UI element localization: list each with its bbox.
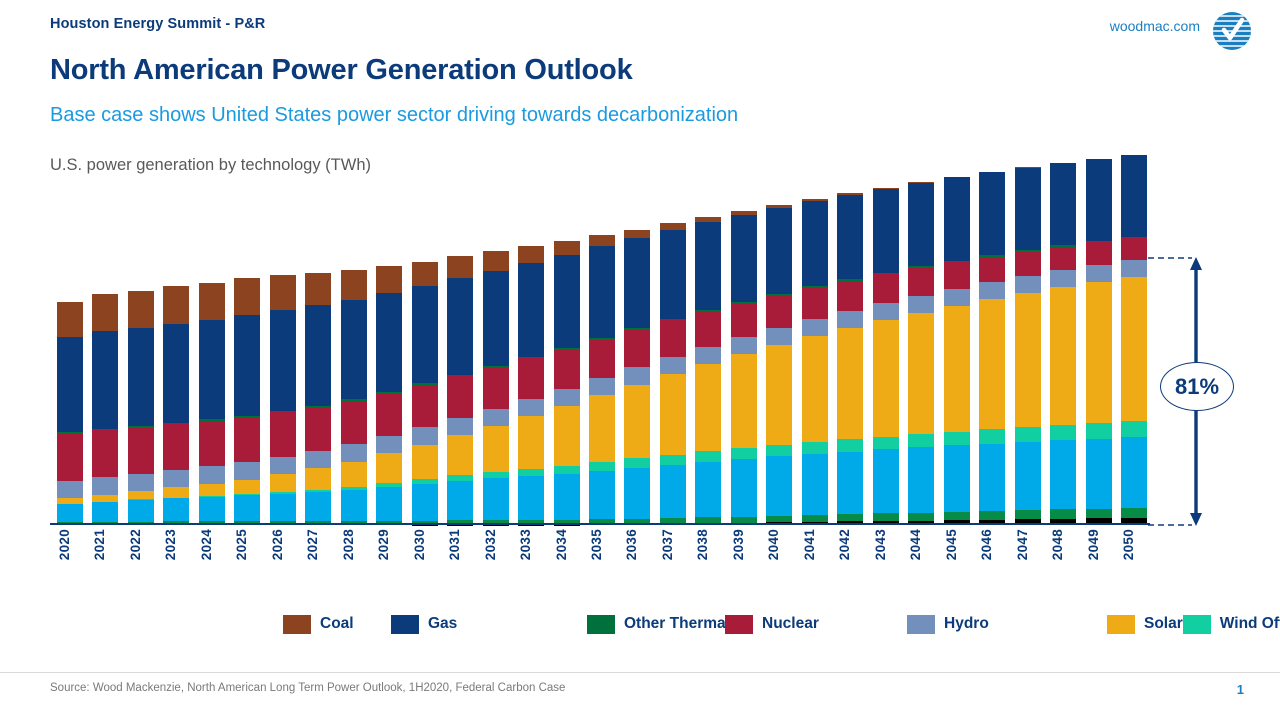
x-axis-label-2042: 2042 [837, 529, 863, 560]
segment-gas [1121, 155, 1147, 237]
x-axis-label-2041: 2041 [802, 529, 828, 560]
segment-nuclear [57, 433, 83, 481]
segment-nuclear [554, 349, 580, 388]
segment-hydro [305, 451, 331, 468]
bar-2038[interactable] [695, 217, 721, 525]
x-axis-label-2040: 2040 [766, 529, 792, 560]
segment-gas [305, 305, 331, 405]
segment-nuclear [695, 311, 721, 346]
segment-wind-offshore [766, 445, 792, 456]
segment-wind-onshore [341, 490, 367, 521]
bar-2031[interactable] [447, 256, 473, 525]
x-axis-labels: 2020202120222023202420252026202720282029… [57, 529, 1147, 589]
segment-solar [483, 426, 509, 472]
segment-gas [412, 286, 438, 383]
woodmac-circle-logo-icon [1212, 11, 1252, 51]
segment-gas [199, 320, 225, 420]
bar-2044[interactable] [908, 182, 934, 525]
segment-other-renewables [979, 511, 1005, 520]
bar-2026[interactable] [270, 275, 296, 525]
x-axis-label-2035: 2035 [589, 529, 615, 560]
segment-wind-offshore [837, 439, 863, 451]
segment-gas [624, 238, 650, 328]
segment-solar [1086, 282, 1112, 423]
segment-nuclear [92, 430, 118, 477]
bar-2037[interactable] [660, 223, 686, 525]
segment-solar [1121, 277, 1147, 421]
x-axis-label-2033: 2033 [518, 529, 544, 560]
segment-nuclear [1086, 242, 1112, 264]
segment-hydro [802, 319, 828, 336]
segment-gas [731, 215, 757, 302]
bar-2030[interactable] [412, 262, 438, 525]
segment-wind-onshore [57, 504, 83, 522]
segment-nuclear [1121, 238, 1147, 260]
segment-solar [412, 445, 438, 480]
legend-item-coal[interactable]: Coal [283, 609, 391, 639]
segment-hydro [483, 409, 509, 426]
legend-swatch-icon [725, 615, 753, 634]
segment-wind-offshore [660, 455, 686, 465]
segment-hydro [873, 303, 899, 320]
segment-solar [873, 320, 899, 436]
segment-gas [802, 201, 828, 286]
segment-wind-onshore [199, 497, 225, 522]
segment-solar [1050, 287, 1076, 425]
segment-nuclear [412, 385, 438, 428]
segment-hydro [944, 289, 970, 306]
x-axis-label-2026: 2026 [270, 529, 296, 560]
segment-wind-onshore [305, 492, 331, 521]
segment-nuclear [873, 274, 899, 303]
segment-hydro [518, 399, 544, 416]
segment-coal [92, 294, 118, 332]
segment-coal [483, 251, 509, 270]
segment-hydro [908, 296, 934, 313]
segment-solar [589, 395, 615, 462]
segment-other-renewables [837, 514, 863, 521]
bar-2023[interactable] [163, 286, 189, 525]
segment-nuclear [128, 427, 154, 474]
segment-wind-onshore [1086, 439, 1112, 509]
eyebrow-text: Houston Energy Summit - P&R [50, 16, 265, 32]
segment-gas [128, 328, 154, 426]
segment-coal [128, 291, 154, 328]
segment-gas [234, 315, 260, 416]
segment-nuclear [341, 401, 367, 445]
segment-wind-offshore [695, 451, 721, 461]
segment-gas [908, 183, 934, 266]
bar-2035[interactable] [589, 235, 615, 525]
segment-gas [483, 271, 509, 366]
segment-other-renewables [1086, 509, 1112, 519]
segment-coal [341, 270, 367, 300]
woodmac-website-link[interactable]: woodmac.com [1110, 18, 1200, 34]
legend-item-hydro[interactable]: Hydro [907, 609, 1107, 639]
segment-coal [554, 241, 580, 255]
bar-2022[interactable] [128, 291, 154, 525]
legend-label: Gas [428, 615, 457, 633]
segment-wind-onshore [944, 445, 970, 511]
legend-item-gas[interactable]: Gas [391, 609, 587, 639]
legend-item-wind-offshore[interactable]: Wind Offshore [1183, 609, 1280, 639]
segment-nuclear [979, 257, 1005, 283]
segment-nuclear [376, 393, 402, 436]
segment-nuclear [1050, 247, 1076, 270]
segment-wind-onshore [695, 462, 721, 518]
segment-solar [270, 474, 296, 492]
segment-wind-offshore [1086, 423, 1112, 439]
legend-swatch-icon [1183, 615, 1211, 634]
x-axis-label-2049: 2049 [1086, 529, 1112, 560]
legend-item-nuclear[interactable]: Nuclear [725, 609, 907, 639]
bar-2048[interactable] [1050, 163, 1076, 525]
segment-coal [234, 278, 260, 314]
segment-coal [270, 275, 296, 310]
segment-solar [695, 364, 721, 451]
page-subtitle: Base case shows United States power sect… [50, 104, 738, 127]
segment-gas [57, 337, 83, 432]
segment-other-renewables [873, 513, 899, 521]
segment-solar [908, 313, 934, 434]
segment-gas [92, 331, 118, 428]
x-axis-label-2027: 2027 [305, 529, 331, 560]
segment-solar [447, 435, 473, 475]
bar-2050[interactable] [1121, 155, 1147, 525]
segment-coal [624, 230, 650, 239]
segment-solar [518, 416, 544, 469]
legend-label: Coal [320, 615, 354, 633]
footer-divider [0, 672, 1280, 673]
x-axis-label-2037: 2037 [660, 529, 686, 560]
segment-coal [199, 283, 225, 320]
segment-gas [766, 208, 792, 294]
segment-hydro [660, 357, 686, 374]
segment-nuclear [944, 262, 970, 289]
x-axis-label-2044: 2044 [908, 529, 934, 560]
bar-2039[interactable] [731, 211, 757, 525]
segment-wind-onshore [802, 454, 828, 515]
segment-solar [979, 299, 1005, 429]
growth-annotation: 81% [1148, 255, 1258, 530]
bar-2047[interactable] [1015, 167, 1041, 525]
segment-nuclear [518, 358, 544, 398]
bar-2020[interactable] [57, 302, 83, 525]
bar-2046[interactable] [979, 172, 1005, 525]
segment-wind-onshore [483, 478, 509, 520]
segment-wind-onshore [1121, 437, 1147, 508]
segment-hydro [589, 378, 615, 395]
segment-wind-offshore [873, 437, 899, 450]
legend-item-other-thermal[interactable]: Other Thermal [587, 609, 725, 639]
segment-gas [447, 278, 473, 375]
legend-swatch-icon [587, 615, 615, 634]
segment-wind-onshore [979, 444, 1005, 511]
growth-percentage-badge: 81% [1160, 362, 1234, 411]
segment-wind-onshore [1015, 442, 1041, 510]
segment-hydro [554, 389, 580, 406]
x-axis-label-2028: 2028 [341, 529, 367, 560]
segment-coal [447, 256, 473, 278]
chart-legend: CoalGasOther ThermalNuclearHydroSolarWin… [283, 609, 983, 639]
bar-2032[interactable] [483, 251, 509, 525]
segment-wind-offshore [589, 462, 615, 471]
segment-wind-onshore [624, 468, 650, 519]
x-axis-label-2047: 2047 [1015, 529, 1041, 560]
legend-swatch-icon [283, 615, 311, 634]
segment-gas [979, 172, 1005, 255]
segment-wind-offshore [979, 429, 1005, 443]
segment-nuclear [1015, 252, 1041, 276]
segment-gas [589, 246, 615, 338]
segment-hydro [57, 481, 83, 498]
segment-solar [305, 468, 331, 489]
segment-wind-offshore [1015, 427, 1041, 442]
legend-item-solar[interactable]: Solar [1107, 609, 1183, 639]
segment-wind-onshore [1050, 440, 1076, 509]
legend-label: Other Thermal [624, 615, 730, 633]
bar-2040[interactable] [766, 205, 792, 525]
segment-wind-onshore [873, 449, 899, 513]
segment-other-renewables [1015, 510, 1041, 519]
legend-label: Wind Offshore [1220, 615, 1280, 633]
x-axis-label-2031: 2031 [447, 529, 473, 560]
segment-hydro [270, 457, 296, 474]
segment-coal [376, 266, 402, 293]
segment-wind-onshore [731, 459, 757, 517]
x-axis-label-2020: 2020 [57, 529, 83, 560]
segment-solar [234, 480, 260, 495]
bar-2034[interactable] [554, 241, 580, 525]
segment-gas [1015, 168, 1041, 251]
x-axis-label-2034: 2034 [554, 529, 580, 560]
x-axis-line [50, 523, 1150, 525]
segment-wind-offshore [624, 458, 650, 467]
segment-coal [412, 262, 438, 287]
segment-nuclear [163, 424, 189, 470]
segment-gas [163, 324, 189, 423]
segment-hydro [1086, 265, 1112, 282]
segment-other-renewables [944, 512, 970, 520]
legend-label: Hydro [944, 615, 989, 633]
bar-2024[interactable] [199, 283, 225, 525]
segment-hydro [92, 477, 118, 494]
segment-coal [305, 273, 331, 305]
segment-solar [199, 484, 225, 496]
x-axis-label-2046: 2046 [979, 529, 1005, 560]
stacked-bar-chart [57, 185, 1147, 525]
bar-2028[interactable] [341, 270, 367, 525]
segment-gas [376, 293, 402, 391]
segment-wind-onshore [412, 484, 438, 521]
bar-2033[interactable] [518, 246, 544, 525]
segment-gas [944, 177, 970, 260]
segment-solar [766, 345, 792, 445]
segment-wind-onshore [92, 502, 118, 522]
x-axis-label-2036: 2036 [624, 529, 650, 560]
segment-solar [624, 385, 650, 459]
bar-2043[interactable] [873, 188, 899, 525]
segment-nuclear [731, 303, 757, 337]
segment-wind-onshore [128, 500, 154, 522]
segment-solar [837, 328, 863, 439]
segment-gas [695, 222, 721, 310]
segment-nuclear [270, 412, 296, 457]
segment-coal [589, 235, 615, 246]
segment-nuclear [447, 376, 473, 418]
bar-2041[interactable] [802, 199, 828, 525]
segment-wind-offshore [1121, 421, 1147, 437]
x-axis-label-2038: 2038 [695, 529, 721, 560]
x-axis-label-2025: 2025 [234, 529, 260, 560]
legend-label: Nuclear [762, 615, 819, 633]
segment-wind-offshore [1050, 425, 1076, 440]
segment-nuclear [660, 320, 686, 356]
segment-gas [1086, 159, 1112, 241]
segment-hydro [766, 328, 792, 345]
x-axis-label-2050: 2050 [1121, 529, 1147, 560]
bar-2042[interactable] [837, 193, 863, 525]
segment-other-renewables [1050, 509, 1076, 518]
segment-nuclear [802, 288, 828, 320]
page-title: North American Power Generation Outlook [50, 54, 633, 87]
segment-wind-onshore [766, 456, 792, 516]
segment-solar [92, 495, 118, 502]
x-axis-label-2029: 2029 [376, 529, 402, 560]
segment-hydro [837, 311, 863, 328]
legend-swatch-icon [907, 615, 935, 634]
segment-hydro [199, 466, 225, 483]
segment-hydro [234, 462, 260, 479]
segment-hydro [731, 337, 757, 354]
legend-swatch-icon [1107, 615, 1135, 634]
bar-2025[interactable] [234, 278, 260, 525]
segment-nuclear [234, 417, 260, 462]
segment-hydro [624, 367, 650, 384]
segment-gas [341, 300, 367, 400]
segment-solar [731, 354, 757, 448]
segment-wind-offshore [518, 469, 544, 476]
segment-coal [163, 286, 189, 323]
segment-nuclear [837, 281, 863, 311]
segment-other-renewables [802, 515, 828, 522]
segment-coal [518, 246, 544, 262]
segment-solar [802, 336, 828, 442]
segment-hydro [412, 427, 438, 444]
segment-hydro [376, 436, 402, 453]
segment-solar [128, 491, 154, 500]
segment-nuclear [908, 268, 934, 296]
x-axis-label-2048: 2048 [1050, 529, 1076, 560]
segment-nuclear [766, 295, 792, 328]
segment-gas [270, 310, 296, 411]
segment-hydro [1050, 270, 1076, 287]
bar-2045[interactable] [944, 177, 970, 525]
segment-hydro [341, 444, 367, 461]
segment-gas [660, 230, 686, 319]
segment-gas [1050, 163, 1076, 245]
segment-solar [163, 487, 189, 497]
segment-hydro [1015, 276, 1041, 293]
chart-caption: U.S. power generation by technology (TWh… [50, 156, 371, 175]
segment-wind-offshore [731, 448, 757, 459]
x-axis-label-2022: 2022 [128, 529, 154, 560]
segment-wind-onshore [447, 481, 473, 520]
segment-wind-onshore [518, 476, 544, 520]
segment-coal [57, 302, 83, 337]
segment-hydro [979, 282, 1005, 299]
segment-wind-onshore [554, 474, 580, 520]
segment-solar [1015, 293, 1041, 427]
bar-2036[interactable] [624, 230, 650, 526]
segment-gas [554, 255, 580, 348]
x-axis-label-2024: 2024 [199, 529, 225, 560]
segment-gas [873, 189, 899, 273]
segment-nuclear [589, 339, 615, 378]
segment-wind-onshore [270, 494, 296, 521]
segment-solar [376, 453, 402, 483]
segment-nuclear [483, 367, 509, 408]
segment-gas [837, 195, 863, 279]
segment-wind-onshore [908, 447, 934, 512]
x-axis-label-2023: 2023 [163, 529, 189, 560]
segment-wind-onshore [376, 487, 402, 521]
segment-wind-offshore [802, 442, 828, 454]
segment-nuclear [199, 421, 225, 467]
bar-2029[interactable] [376, 266, 402, 525]
segment-solar [944, 306, 970, 432]
x-axis-label-2043: 2043 [873, 529, 899, 560]
segment-hydro [447, 418, 473, 435]
segment-hydro [1121, 260, 1147, 277]
segment-wind-offshore [908, 434, 934, 447]
legend-swatch-icon [391, 615, 419, 634]
segment-wind-onshore [837, 452, 863, 515]
segment-nuclear [305, 407, 331, 451]
legend-label: Solar [1144, 615, 1183, 633]
segment-solar [660, 374, 686, 455]
x-axis-label-2021: 2021 [92, 529, 118, 560]
segment-hydro [128, 474, 154, 491]
segment-hydro [695, 347, 721, 364]
segment-wind-onshore [589, 471, 615, 520]
x-axis-label-2045: 2045 [944, 529, 970, 560]
segment-other-renewables [908, 513, 934, 521]
segment-wind-onshore [660, 465, 686, 518]
x-axis-label-2030: 2030 [412, 529, 438, 560]
segment-wind-onshore [234, 495, 260, 521]
segment-other-renewables [1121, 508, 1147, 518]
x-axis-label-2032: 2032 [483, 529, 509, 560]
source-note: Source: Wood Mackenzie, North American L… [50, 682, 565, 694]
segment-hydro [163, 470, 189, 487]
bar-2049[interactable] [1086, 159, 1112, 525]
bar-2027[interactable] [305, 273, 331, 525]
bar-2021[interactable] [92, 294, 118, 525]
segment-wind-offshore [554, 466, 580, 474]
segment-wind-offshore [944, 432, 970, 446]
page-number: 1 [1237, 682, 1244, 697]
segment-wind-onshore [163, 498, 189, 521]
x-axis-label-2039: 2039 [731, 529, 757, 560]
segment-solar [554, 406, 580, 466]
segment-nuclear [624, 330, 650, 368]
segment-solar [341, 462, 367, 487]
segment-gas [518, 263, 544, 357]
